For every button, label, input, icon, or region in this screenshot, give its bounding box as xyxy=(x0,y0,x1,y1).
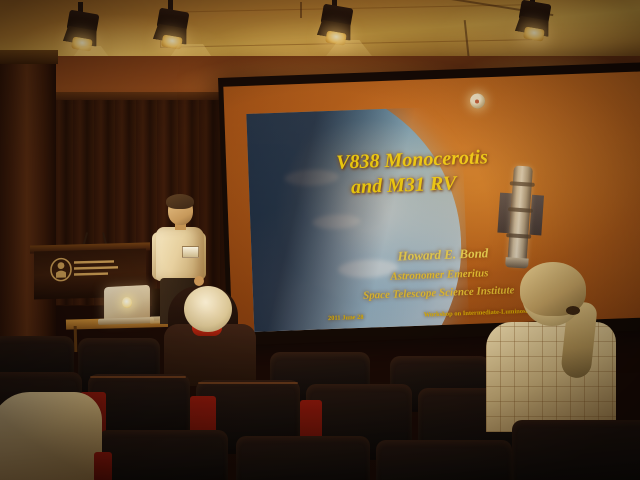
seat-row3-3 xyxy=(376,440,512,480)
telescope-solar-panel-right xyxy=(529,195,544,236)
ceiling-cable-1 xyxy=(300,2,302,18)
foreground-person-shading xyxy=(0,392,102,480)
stsci-logo-svg xyxy=(48,255,122,283)
seat-row3-4 xyxy=(512,420,640,480)
slide-title: V838 Monocerotis and M31 RV xyxy=(336,140,628,201)
table-leg-left xyxy=(74,326,78,352)
stsci-logo xyxy=(48,255,122,283)
slide-date: 2011 June 28 xyxy=(328,314,364,322)
plaid-shirt xyxy=(486,322,616,432)
column-capital xyxy=(0,50,58,64)
apple-logo xyxy=(122,297,133,309)
architectural-column xyxy=(0,56,56,356)
hair-tie xyxy=(566,306,580,315)
lecture-hall-photo: V838 Monocerotis and M31 RV Howard E. Bo… xyxy=(0,0,640,480)
seat-highlight-1 xyxy=(90,376,186,378)
seat-cushion-red-4 xyxy=(94,452,112,480)
audience-grey-hair-head xyxy=(184,286,232,332)
presenter-hair xyxy=(166,194,194,209)
name-badge xyxy=(182,246,199,258)
seat-row3-1 xyxy=(98,430,228,480)
seat-row3-2 xyxy=(236,436,370,480)
seat-highlight-2 xyxy=(198,382,298,384)
presenter-hand xyxy=(194,276,204,286)
